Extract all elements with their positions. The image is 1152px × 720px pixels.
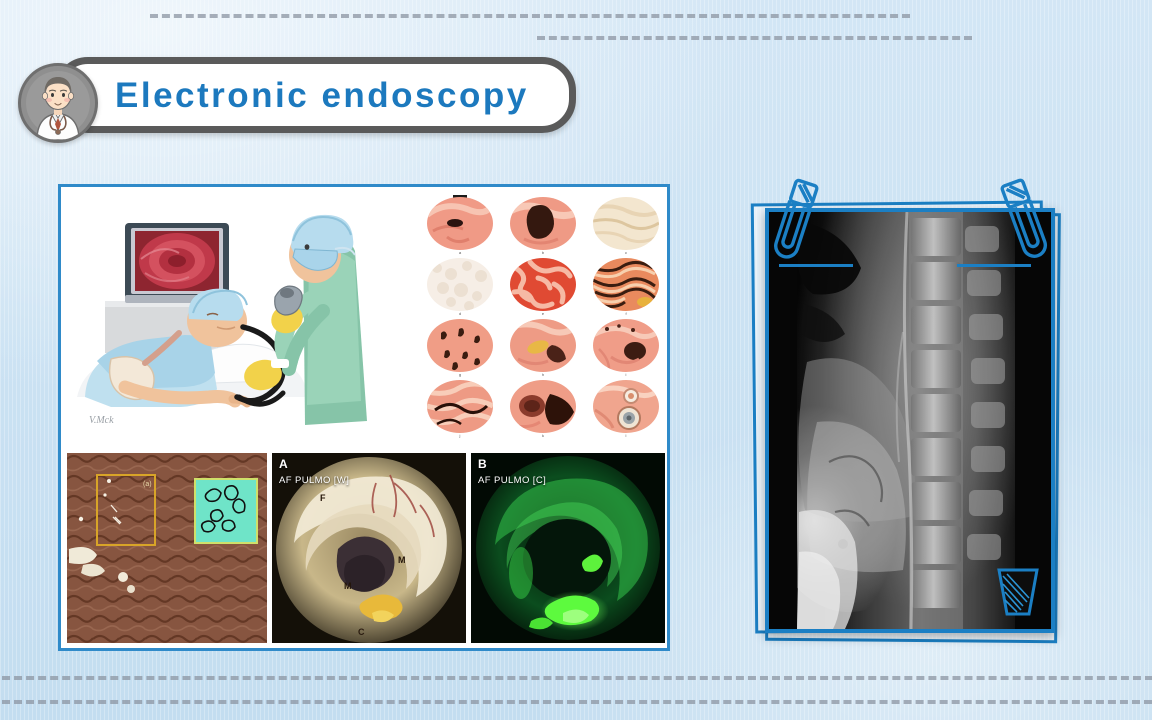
endoscopy-thumb: [427, 197, 493, 250]
endoscopy-thumb: [593, 197, 659, 250]
svg-text:F: F: [320, 493, 326, 503]
endoscopy-image-grid: a b c: [424, 197, 662, 447]
endoscopy-thumb: [510, 319, 576, 372]
svg-text:C: C: [358, 627, 365, 637]
white-light-bronchoscopy-panel: F M M C A AF PULMO [W]: [272, 453, 466, 643]
page-title: Electronic endoscopy: [115, 78, 529, 113]
thumb-caption: c: [590, 250, 662, 255]
clip-top-right-icon: [997, 172, 1059, 277]
clip-top-left-icon: [767, 174, 827, 279]
endoscopy-thumb: [510, 380, 576, 433]
endoscopy-thumb: [593, 258, 659, 311]
panel-letter: A: [279, 457, 288, 471]
xray-group: [745, 168, 1090, 658]
svg-text:(a): (a): [143, 481, 152, 488]
panel-letter: B: [478, 457, 487, 471]
endoscopy-thumb: [593, 380, 659, 433]
thumb-caption: k: [507, 433, 579, 438]
endoscopy-thumb: [427, 380, 493, 433]
svg-text:V.Mck: V.Mck: [89, 415, 114, 426]
title-pill: Electronic endoscopy: [54, 57, 576, 133]
doctor-avatar: [18, 63, 98, 143]
thumb-caption: b: [507, 250, 579, 255]
grid-row: d e: [424, 258, 662, 316]
thumb-caption: a: [424, 250, 496, 255]
grid-row: j k: [424, 380, 662, 438]
endoscopy-thumb: [427, 258, 493, 311]
grid-row: g h i: [424, 319, 662, 377]
grid-row: a b c: [424, 197, 662, 255]
thumb-caption: d: [424, 311, 496, 316]
dashed-line-bottom-1: [0, 676, 1152, 680]
content-card: V.Mck a: [58, 184, 670, 651]
thumb-caption: e: [507, 311, 579, 316]
svg-text:M: M: [398, 555, 406, 565]
panel-label: AF PULMO [W]: [279, 475, 349, 486]
thumb-caption: i: [590, 372, 662, 377]
endoscopy-thumb: [510, 197, 576, 250]
thumb-caption: f: [590, 311, 662, 316]
dashed-line-top-2: [537, 36, 972, 40]
slide-title-group: Electronic endoscopy: [18, 55, 576, 135]
thumb-caption: j: [424, 433, 496, 438]
dashed-line-top-1: [150, 14, 910, 18]
confocal-endomicroscopy-panel: (a): [67, 453, 267, 643]
slide-canvas: Electronic endoscopy: [0, 0, 1152, 720]
thumb-caption: g: [424, 372, 496, 377]
endoscopy-thumb: [593, 319, 659, 372]
thumb-caption: l: [590, 433, 662, 438]
endoscopy-thumb: [427, 319, 493, 372]
dashed-line-bottom-2: [2, 700, 1152, 704]
thumb-caption: h: [507, 372, 579, 377]
panel-label: AF PULMO [C]: [478, 475, 546, 486]
autofluorescence-bronchoscopy-panel: B AF PULMO [C]: [471, 453, 665, 643]
endoscopy-thumb: [510, 258, 576, 311]
svg-text:M: M: [344, 581, 352, 591]
bottom-panel-row: (a): [67, 453, 667, 643]
folded-corner-icon: [993, 566, 1039, 612]
upper-gi-endoscopy-illustration: V.Mck: [67, 201, 417, 445]
